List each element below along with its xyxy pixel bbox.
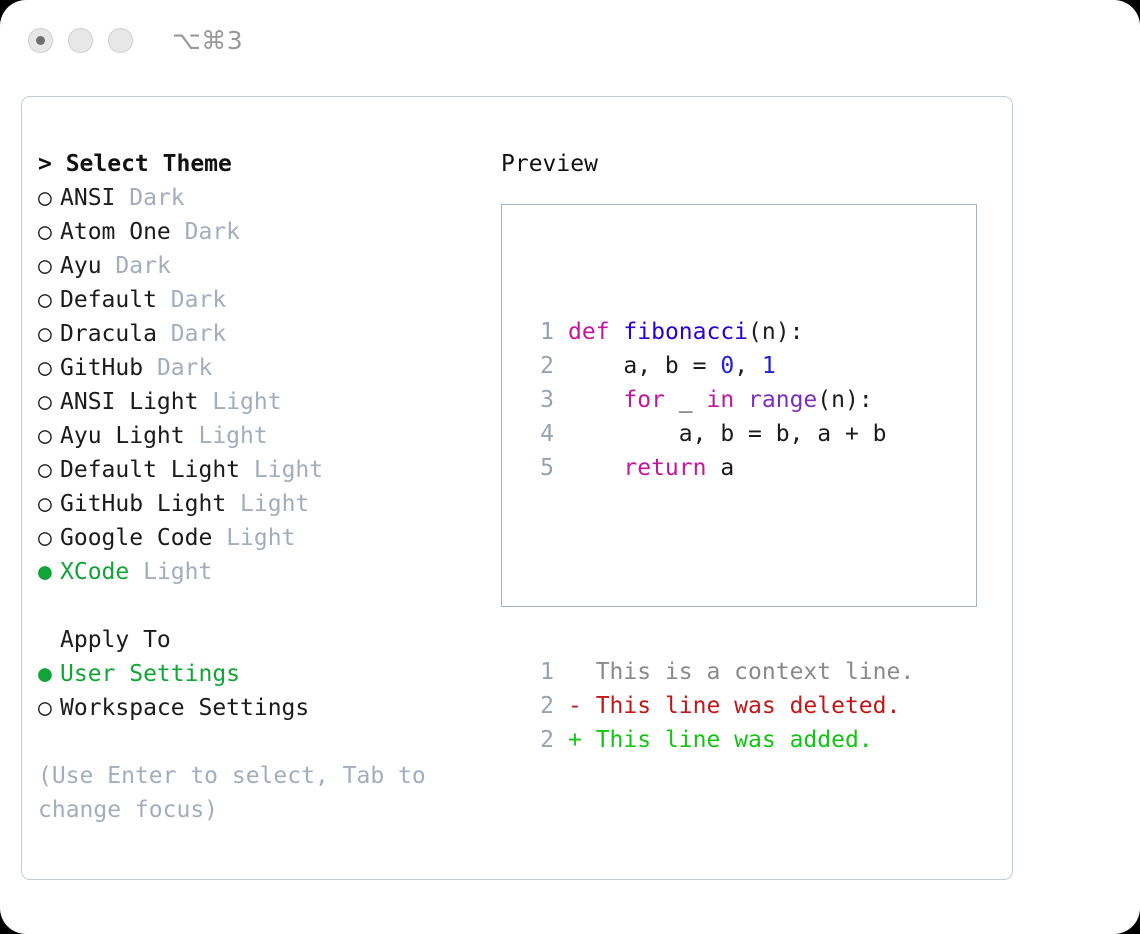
radio-selected-icon[interactable]: ● (38, 555, 60, 589)
code-token: for (623, 387, 665, 413)
apply-to-heading: Apply To (38, 623, 488, 657)
theme-name: Google Code (60, 525, 212, 551)
diff-line-number: 1 (524, 655, 554, 689)
code-line-number: 5 (524, 451, 554, 485)
window-button-close[interactable] (28, 28, 53, 53)
diff-line: 2+ This line was added. (524, 723, 914, 757)
diff-marker: + (568, 727, 582, 753)
radio-unselected-icon[interactable]: ○ (38, 453, 60, 487)
code-token (734, 387, 748, 413)
theme-name: GitHub Light (60, 491, 226, 517)
code-line-number: 4 (524, 417, 554, 451)
window-button-minimize[interactable] (68, 28, 93, 53)
apply-to-list: ●User Settings○Workspace Settings (38, 657, 488, 725)
radio-unselected-icon[interactable]: ○ (38, 215, 60, 249)
code-token: fibonacci (623, 319, 748, 345)
theme-name: Atom One (60, 219, 171, 245)
theme-list-item[interactable]: ○Ayu Dark (38, 249, 488, 283)
radio-unselected-icon[interactable]: ○ (38, 691, 60, 725)
theme-name: Default Light (60, 457, 240, 483)
radio-unselected-icon[interactable]: ○ (38, 385, 60, 419)
keyboard-shortcut-label: ⌥⌘3 (172, 26, 243, 55)
theme-name: Default (60, 287, 157, 313)
apply-to-option-label: User Settings (60, 661, 240, 687)
theme-name: Ayu Light (60, 423, 185, 449)
theme-list-item[interactable]: ○GitHub Dark (38, 351, 488, 385)
code-line-number: 2 (524, 349, 554, 383)
theme-list-item[interactable]: ○Atom One Dark (38, 215, 488, 249)
code-token: 1 (762, 353, 776, 379)
code-token: def (568, 319, 610, 345)
list-spacer (38, 589, 488, 623)
diff-line: 1 This is a context line. (524, 655, 914, 689)
code-token: (n): (817, 387, 872, 413)
radio-unselected-icon[interactable]: ○ (38, 181, 60, 215)
apply-to-option[interactable]: ○Workspace Settings (38, 691, 488, 725)
theme-list-column: > Select Theme ○ANSI Dark○Atom One Dark○… (38, 147, 488, 827)
theme-list-item[interactable]: ●XCode Light (38, 555, 488, 589)
code-token: _ (665, 387, 707, 413)
code-line-number: 1 (524, 315, 554, 349)
theme-list-item[interactable]: ○Default Light Light (38, 453, 488, 487)
theme-variant-tag: Dark (185, 219, 240, 245)
code-token: a (706, 455, 734, 481)
theme-name: ANSI (60, 185, 115, 211)
theme-variant-tag: Light (240, 491, 309, 517)
theme-list-item[interactable]: ○Ayu Light Light (38, 419, 488, 453)
radio-selected-icon[interactable]: ● (38, 657, 60, 691)
theme-name: GitHub (60, 355, 143, 381)
window-button-maximize[interactable] (108, 28, 133, 53)
radio-unselected-icon[interactable]: ○ (38, 419, 60, 453)
theme-variant-tag: Dark (129, 185, 184, 211)
theme-variant-tag: Light (212, 389, 281, 415)
diff-text: This line was added. (582, 727, 873, 753)
radio-unselected-icon[interactable]: ○ (38, 521, 60, 555)
theme-list: ○ANSI Dark○Atom One Dark○Ayu Dark○Defaul… (38, 181, 488, 589)
theme-list-item[interactable]: ○ANSI Dark (38, 181, 488, 215)
code-token: a, b = b, a + b (568, 421, 887, 447)
code-line: 2 a, b = 0, 1 (524, 349, 914, 383)
theme-variant-tag: Dark (171, 287, 226, 313)
select-theme-heading: > Select Theme (38, 147, 488, 181)
code-token: range (748, 387, 817, 413)
theme-list-item[interactable]: ○ANSI Light Light (38, 385, 488, 419)
diff-line: 2- This line was deleted. (524, 689, 914, 723)
theme-variant-tag: Light (226, 525, 295, 551)
code-token: (n): (748, 319, 803, 345)
preview-heading: Preview (501, 147, 1001, 181)
theme-selector-panel: > Select Theme ○ANSI Dark○Atom One Dark○… (21, 96, 1013, 880)
theme-variant-tag: Light (254, 457, 323, 483)
theme-variant-tag: Light (143, 559, 212, 585)
code-line: 5 return a (524, 451, 914, 485)
preview-code: 1def fibonacci(n):2 a, b = 0, 13 for _ i… (524, 247, 914, 825)
theme-variant-tag: Light (198, 423, 267, 449)
diff-sample: 1 This is a context line.2- This line wa… (524, 655, 914, 757)
diff-text: This line was deleted. (582, 693, 901, 719)
theme-name: XCode (60, 559, 129, 585)
code-line: 1def fibonacci(n): (524, 315, 914, 349)
code-token: in (706, 387, 734, 413)
hint-spacer (38, 725, 488, 759)
diff-line-number: 2 (524, 723, 554, 757)
code-line: 4 a, b = b, a + b (524, 417, 914, 451)
code-diff-gap (524, 553, 914, 587)
preview-box: 1def fibonacci(n):2 a, b = 0, 13 for _ i… (501, 204, 977, 607)
theme-variant-tag: Dark (115, 253, 170, 279)
apply-to-heading-indent (38, 623, 60, 657)
radio-unselected-icon[interactable]: ○ (38, 317, 60, 351)
theme-name: Dracula (60, 321, 157, 347)
code-token (610, 319, 624, 345)
diff-marker (568, 659, 582, 685)
apply-to-option-label: Workspace Settings (60, 695, 309, 721)
theme-name: Ayu (60, 253, 102, 279)
diff-marker: - (568, 693, 582, 719)
theme-variant-tag: Dark (157, 355, 212, 381)
theme-variant-tag: Dark (171, 321, 226, 347)
radio-unselected-icon[interactable]: ○ (38, 351, 60, 385)
diff-text: This is a context line. (582, 659, 914, 685)
title-bar: ⌥⌘3 (0, 0, 1140, 80)
app-window: ⌥⌘3 > Select Theme ○ANSI Dark○Atom One D… (0, 0, 1140, 934)
diff-line-number: 2 (524, 689, 554, 723)
radio-unselected-icon[interactable]: ○ (38, 487, 60, 521)
theme-list-item[interactable]: ○Dracula Dark (38, 317, 488, 351)
code-token: 0 (720, 353, 734, 379)
theme-list-item[interactable]: ○GitHub Light Light (38, 487, 488, 521)
code-token: a, b = (568, 353, 720, 379)
preview-column: Preview (501, 147, 1001, 181)
theme-list-item[interactable]: ○Default Dark (38, 283, 488, 317)
theme-name: ANSI Light (60, 389, 198, 415)
code-line-number: 3 (524, 383, 554, 417)
theme-list-item[interactable]: ○Google Code Light (38, 521, 488, 555)
keyboard-hint-text: (Use Enter to select, Tab to change focu… (38, 759, 448, 827)
radio-unselected-icon[interactable]: ○ (38, 249, 60, 283)
code-line: 3 for _ in range(n): (524, 383, 914, 417)
radio-unselected-icon[interactable]: ○ (38, 283, 60, 317)
code-token: , (734, 353, 762, 379)
code-token: return (623, 455, 706, 481)
code-sample: 1def fibonacci(n):2 a, b = 0, 13 for _ i… (524, 315, 914, 485)
code-token (568, 387, 623, 413)
code-token (568, 455, 623, 481)
window-button-active-dot (36, 36, 45, 45)
apply-to-option[interactable]: ●User Settings (38, 657, 488, 691)
